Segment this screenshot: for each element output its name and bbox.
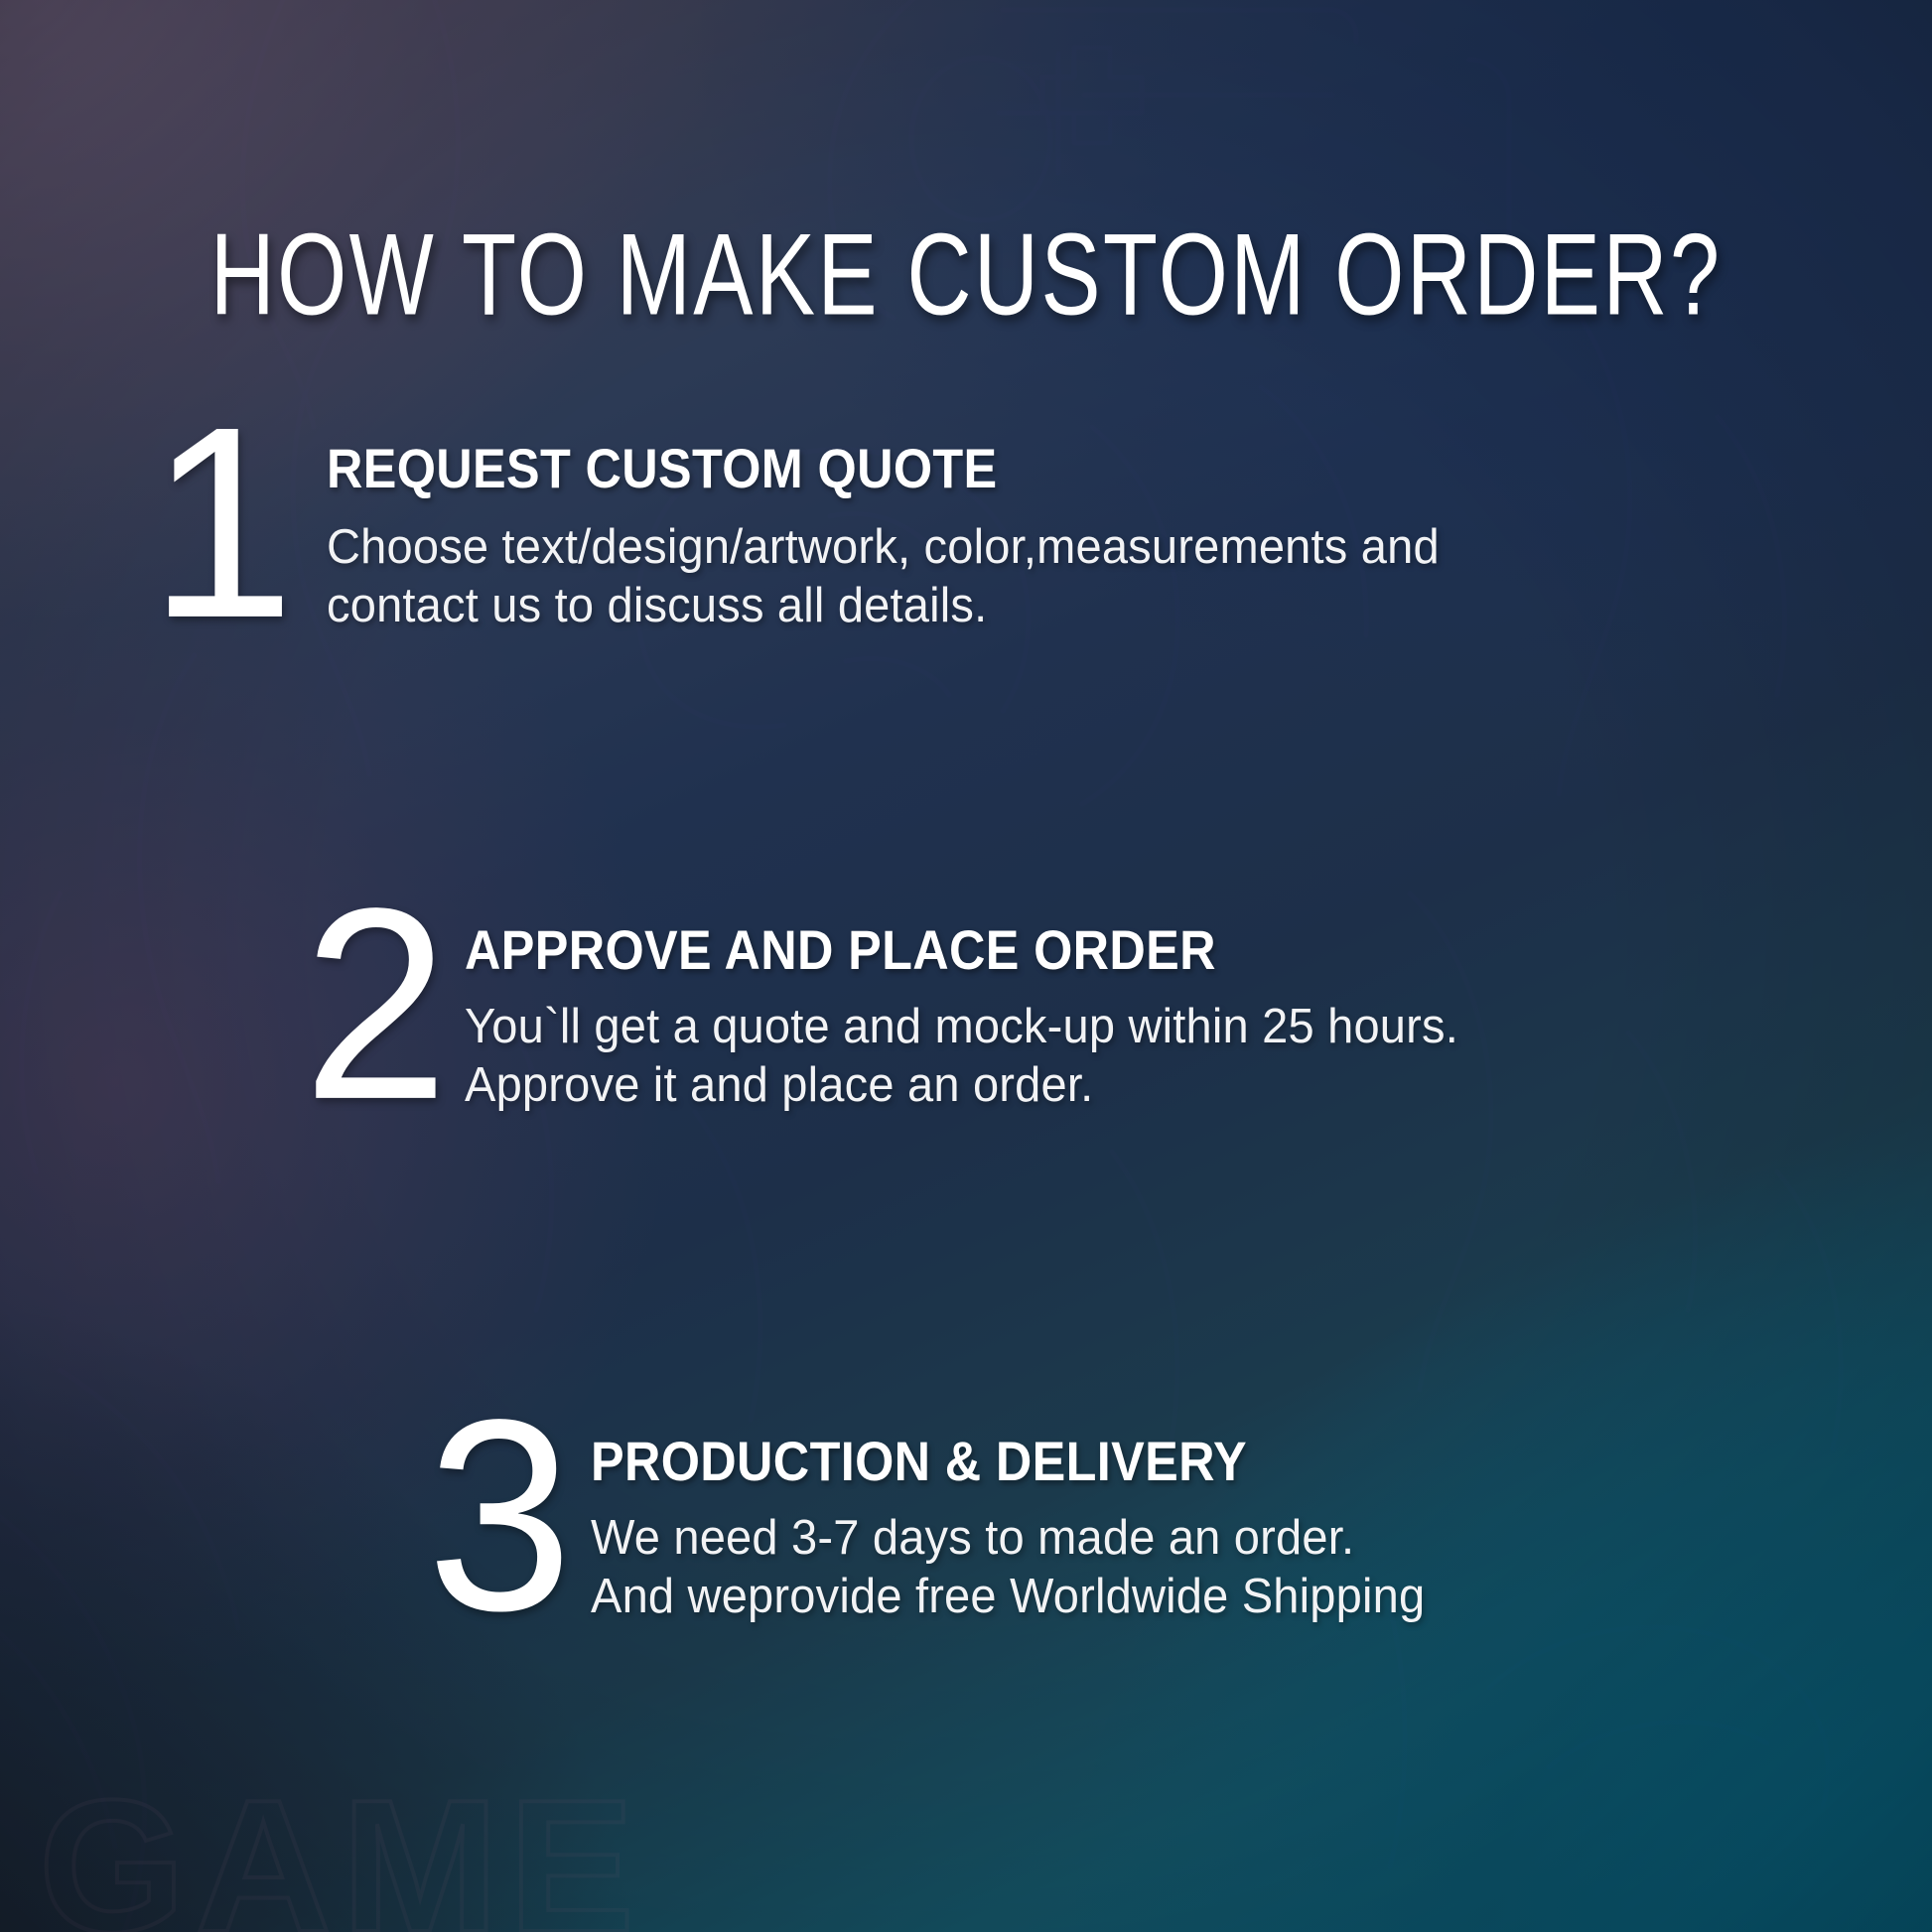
step-description-1: Choose text/design/artwork, color,measur… [327, 518, 1440, 635]
step-body-2: APPROVE AND PLACE ORDER You`ll get a quo… [465, 908, 1500, 1115]
step-description-1-line-2: contact us to discuss all details. [327, 577, 1440, 635]
step-description-3-line-1: We need 3-7 days to made an order. [591, 1509, 1425, 1568]
step-description-2-line-2: Approve it and place an order. [465, 1056, 1458, 1115]
step-heading-1: REQUEST CUSTOM QUOTE [327, 441, 1370, 496]
step-body-3: PRODUCTION & DELIVERY We need 3-7 days t… [591, 1420, 1459, 1626]
step-heading-3: PRODUCTION & DELIVERY [591, 1434, 1373, 1489]
step-heading-2: APPROVE AND PLACE ORDER [465, 922, 1396, 978]
page-title: HOW TO MAKE CUSTOM ORDER? [58, 217, 1873, 334]
step-number-3: 3 [427, 1406, 567, 1624]
step-item-2: 2 APPROVE AND PLACE ORDER You`ll get a q… [303, 908, 1500, 1115]
step-description-2: You`ll get a quote and mock-up within 25… [465, 998, 1458, 1115]
step-number-1: 1 [149, 413, 289, 631]
step-description-1-line-1: Choose text/design/artwork, color,measur… [327, 518, 1440, 577]
poster-content: HOW TO MAKE CUSTOM ORDER? 1 REQUEST CUST… [0, 0, 1932, 1932]
step-item-3: 3 PRODUCTION & DELIVERY We need 3-7 days… [427, 1420, 1459, 1626]
step-description-2-line-1: You`ll get a quote and mock-up within 25… [465, 998, 1458, 1056]
step-number-2: 2 [303, 895, 443, 1113]
step-item-1: 1 REQUEST CUSTOM QUOTE Choose text/desig… [149, 427, 1485, 635]
infographic-poster: GAME HOW TO MAKE CUSTOM ORDER? 1 REQUEST… [0, 0, 1932, 1932]
step-description-3-line-2: And weprovide free Worldwide Shipping [591, 1568, 1425, 1626]
step-description-3: We need 3-7 days to made an order. And w… [591, 1509, 1425, 1626]
step-body-1: REQUEST CUSTOM QUOTE Choose text/design/… [327, 427, 1486, 635]
